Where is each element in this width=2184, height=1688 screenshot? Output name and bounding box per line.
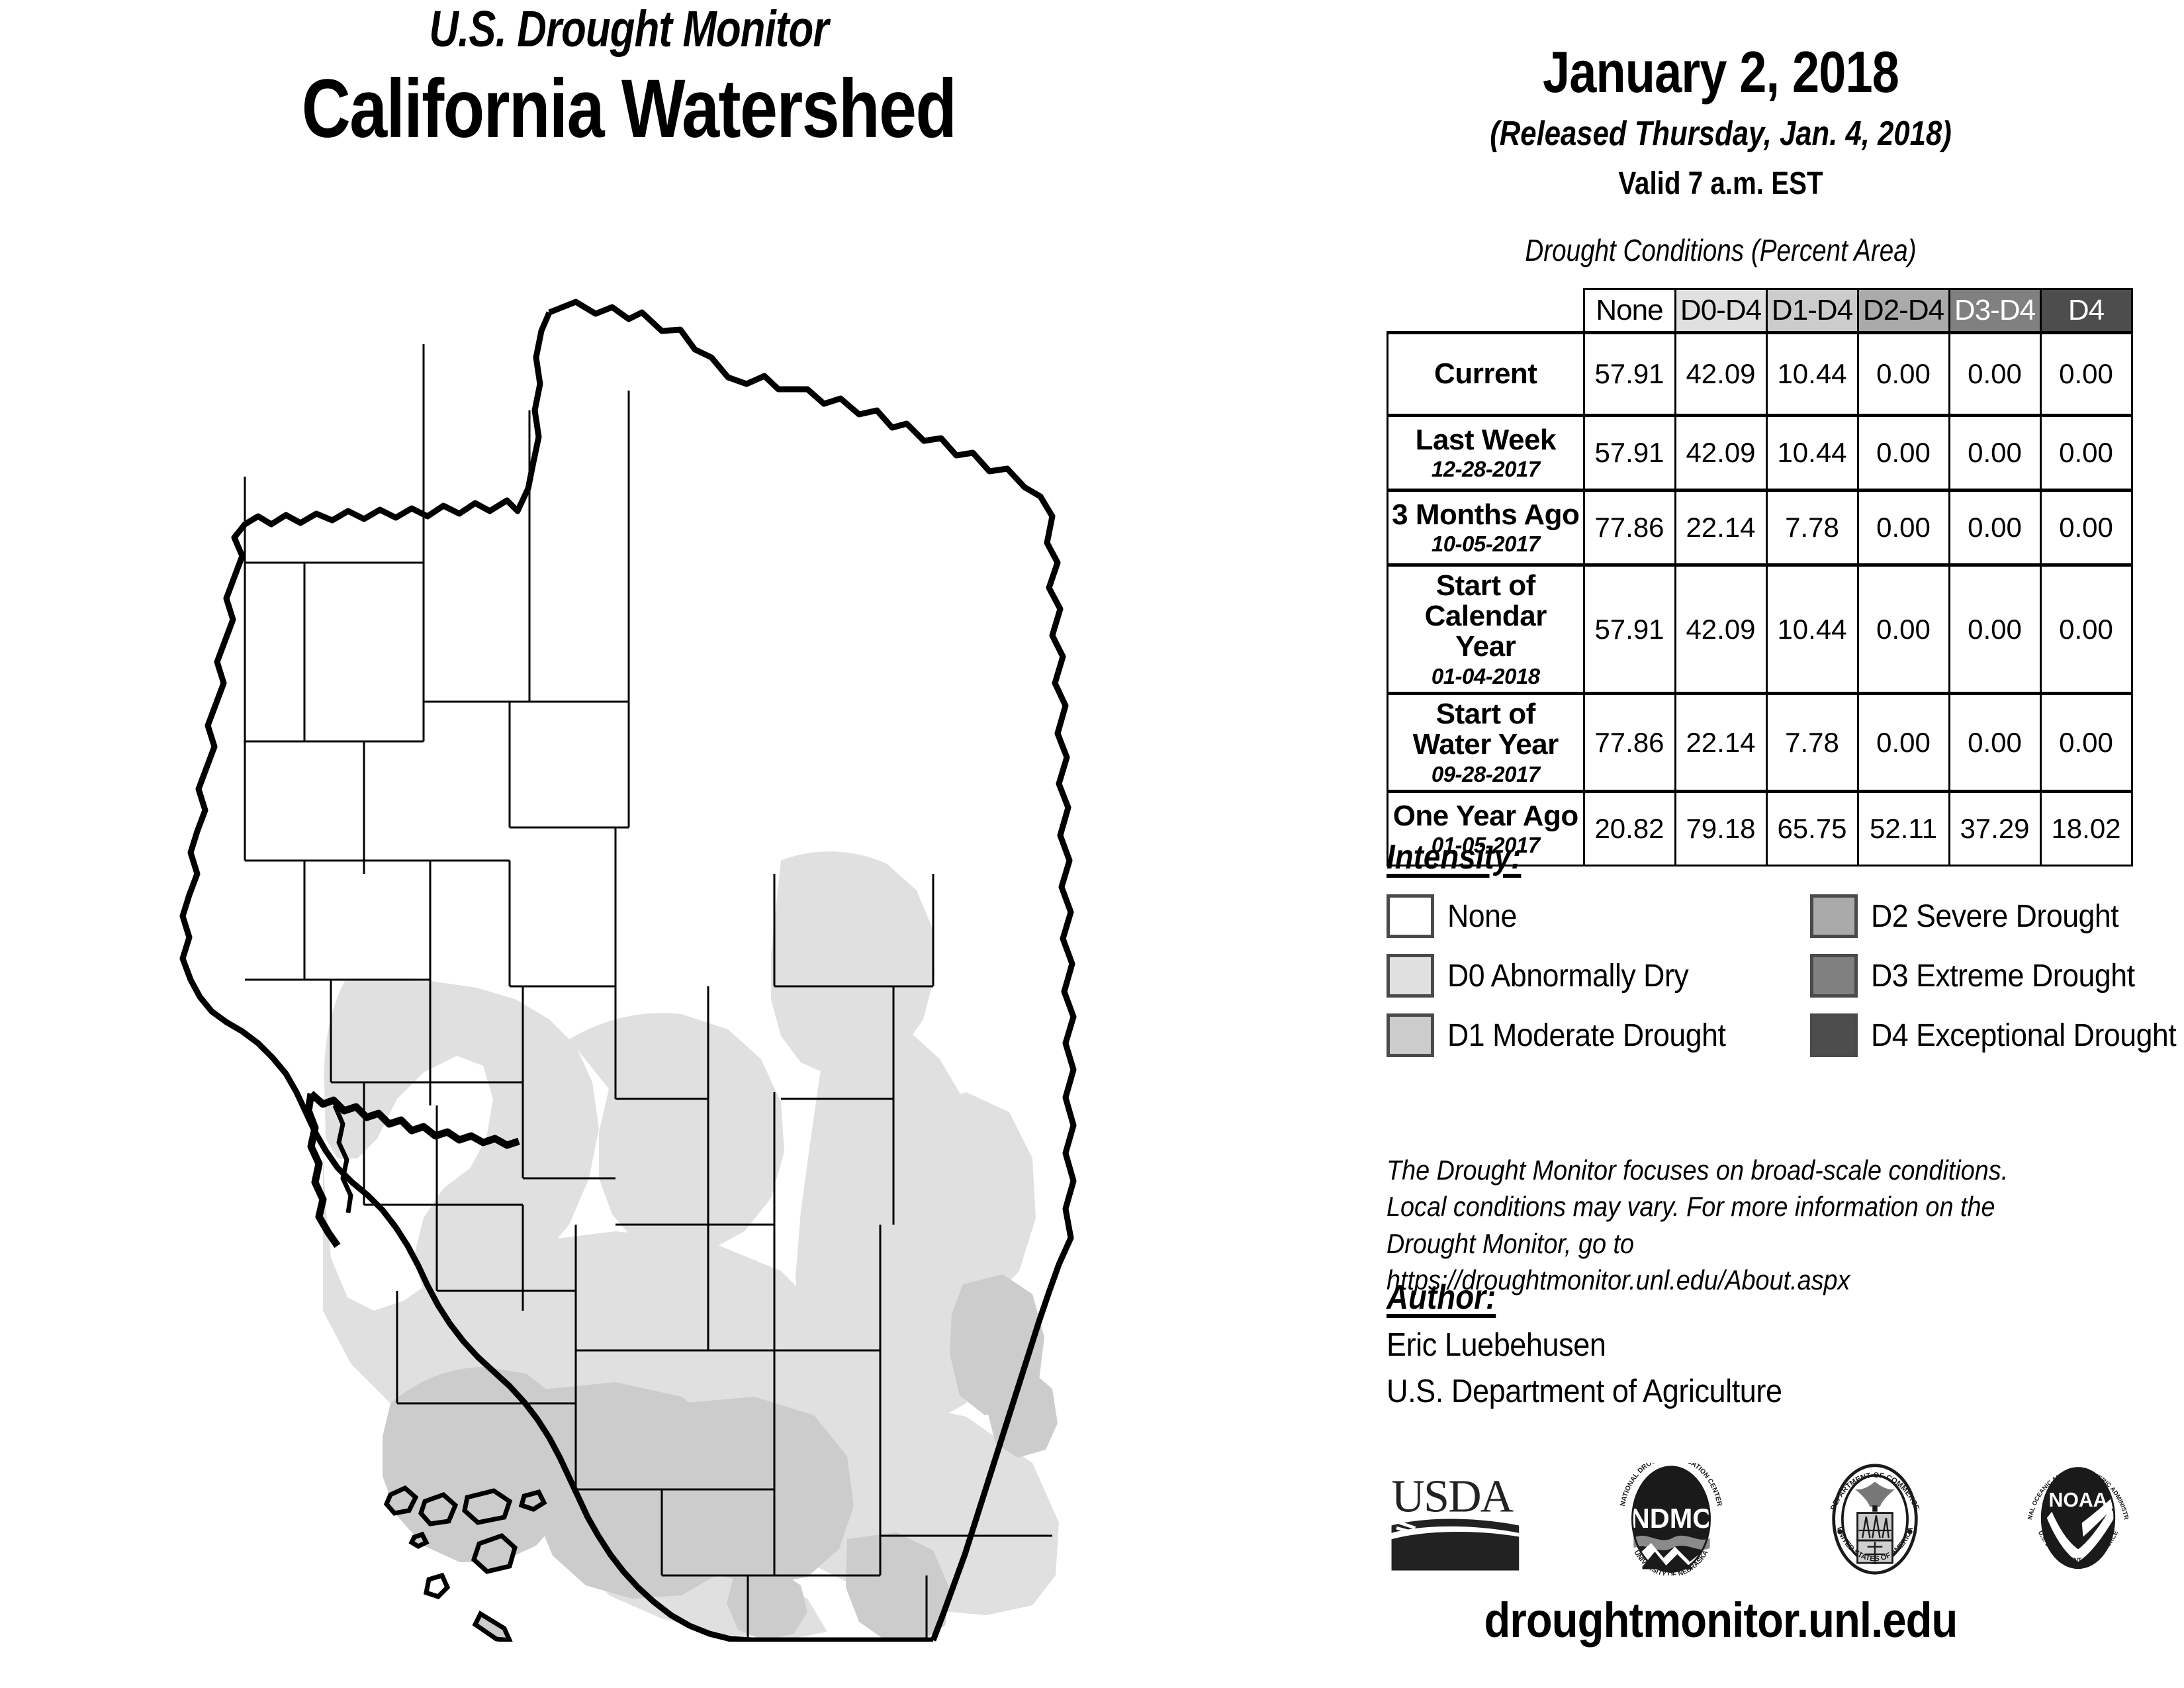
legend-item-5: D4 Exceptional Drought	[1810, 1013, 2167, 1057]
column-header-d0d4: D0-D4	[1675, 289, 1766, 333]
svg-text:NOAA: NOAA	[2048, 1489, 2107, 1511]
california-watershed-map	[113, 278, 1205, 1642]
cell-r2-c0: 77.86	[1584, 491, 1675, 565]
table-corner-cell	[1388, 289, 1584, 333]
intensity-heading: Intensity:	[1387, 837, 1521, 877]
cell-r0-c0: 57.91	[1584, 333, 1675, 416]
legend-swatch-5	[1810, 1013, 1858, 1057]
legend-label-0: None	[1447, 898, 1517, 935]
agency-logos: USDA NDMC NATIONAL DROUGHT MITIGATION CE…	[1387, 1450, 2134, 1575]
legend-item-4: D1 Moderate Drought	[1387, 1013, 1810, 1057]
row-date-3: 01-04-2018	[1391, 665, 1580, 688]
cell-r0-c4: 0.00	[1949, 333, 2040, 416]
cell-r1-c3: 0.00	[1858, 416, 1949, 491]
cell-r3-c0: 57.91	[1584, 565, 1675, 694]
cell-r1-c2: 10.44	[1766, 416, 1858, 491]
legend-label-1: D2 Severe Drought	[1871, 898, 2118, 935]
column-header-d2d4: D2-D4	[1858, 289, 1949, 333]
author-affiliation: U.S. Department of Agriculture	[1387, 1373, 1782, 1410]
cell-r2-c2: 7.78	[1766, 491, 1858, 565]
row-label-1: Last Week12-28-2017	[1388, 416, 1584, 491]
legend-item-1: D2 Severe Drought	[1810, 894, 2167, 938]
row-label-3: Start ofCalendar Year01-04-2018	[1388, 565, 1584, 694]
row-date-1: 12-28-2017	[1391, 458, 1580, 481]
legend-label-5: D4 Exceptional Drought	[1871, 1017, 2176, 1054]
cell-r3-c4: 0.00	[1949, 565, 2040, 694]
cell-r0-c3: 0.00	[1858, 333, 1949, 416]
column-header-d1d4: D1-D4	[1766, 289, 1858, 333]
legend-item-0: None	[1387, 894, 1810, 938]
cell-r3-c3: 0.00	[1858, 565, 1949, 694]
cell-r3-c1: 42.09	[1675, 565, 1766, 694]
legend-item-3: D3 Extreme Drought	[1810, 954, 2167, 998]
table-row: Start ofCalendar Year01-04-201857.9142.0…	[1388, 565, 2132, 694]
column-header-none: None	[1584, 289, 1675, 333]
valid-time: Valid 7 a.m. EST	[1332, 165, 2110, 202]
table-caption: Drought Conditions (Percent Area)	[1332, 232, 2110, 268]
table-body: Current57.9142.0910.440.000.000.00Last W…	[1388, 333, 2132, 866]
table-row: Last Week12-28-201757.9142.0910.440.000.…	[1388, 416, 2132, 491]
report-date: January 2, 2018	[1332, 38, 2110, 106]
svg-text:USDA: USDA	[1392, 1472, 1514, 1523]
intensity-legend: Intensity: NoneD2 Severe DroughtD0 Abnor…	[1387, 837, 2167, 1057]
legend-swatch-4	[1387, 1013, 1434, 1057]
cell-r4-c5: 0.00	[2040, 694, 2132, 792]
legend-swatch-1	[1810, 894, 1858, 938]
row-date-4: 09-28-2017	[1391, 763, 1580, 786]
drought-conditions-table: None D0-D4 D1-D4 D2-D4 D3-D4 D4 Current5…	[1387, 288, 2133, 867]
usda-logo: USDA	[1387, 1463, 1524, 1575]
svg-text:NDMC: NDMC	[1630, 1503, 1713, 1534]
cell-r1-c1: 42.09	[1675, 416, 1766, 491]
legend-label-2: D0 Abnormally Dry	[1447, 958, 1688, 994]
map-title-block: U.S. Drought Monitor California Watershe…	[0, 0, 1257, 156]
cell-r0-c2: 10.44	[1766, 333, 1858, 416]
footer-url[interactable]: droughtmonitor.unl.edu	[1313, 1592, 2128, 1648]
legend-grid: NoneD2 Severe DroughtD0 Abnormally DryD3…	[1387, 894, 2167, 1057]
table-row: Current57.9142.0910.440.000.000.00	[1388, 333, 2132, 416]
cell-r4-c1: 22.14	[1675, 694, 1766, 792]
disclaimer-text: The Drought Monitor focuses on broad-sca…	[1387, 1152, 2101, 1299]
cell-r3-c2: 10.44	[1766, 565, 1858, 694]
legend-label-3: D3 Extreme Drought	[1871, 958, 2135, 994]
release-date: (Released Thursday, Jan. 4, 2018)	[1332, 114, 2110, 154]
disclaimer-line-2: Local conditions may vary. For more info…	[1387, 1188, 2101, 1225]
table-row: 3 Months Ago10-05-201777.8622.147.780.00…	[1388, 491, 2132, 565]
cell-r0-c5: 0.00	[2040, 333, 2132, 416]
drought-monitor-eyebrow: U.S. Drought Monitor	[126, 0, 1132, 59]
cell-r4-c3: 0.00	[1858, 694, 1949, 792]
table-row: Start ofWater Year09-28-201777.8622.147.…	[1388, 694, 2132, 792]
legend-label-4: D1 Moderate Drought	[1447, 1017, 1725, 1054]
cell-r4-c4: 0.00	[1949, 694, 2040, 792]
author-name: Eric Luebehusen	[1387, 1327, 1782, 1364]
row-label-0: Current	[1388, 333, 1584, 416]
legend-swatch-3	[1810, 954, 1858, 998]
author-heading: Author:	[1387, 1278, 1496, 1317]
noaa-logo: NOAA NATIONAL OCEANIC AND ATMOSPHERIC AD…	[2022, 1463, 2134, 1575]
cell-r0-c1: 42.09	[1675, 333, 1766, 416]
cell-r4-c2: 7.78	[1766, 694, 1858, 792]
author-block: Author: Eric Luebehusen U.S. Department …	[1387, 1278, 1817, 1410]
cell-r4-c0: 77.86	[1584, 694, 1675, 792]
cell-r1-c4: 0.00	[1949, 416, 2040, 491]
legend-swatch-0	[1387, 894, 1434, 938]
cell-r1-c0: 57.91	[1584, 416, 1675, 491]
cell-r2-c4: 0.00	[1949, 491, 2040, 565]
row-label-2: 3 Months Ago10-05-2017	[1388, 491, 1584, 565]
map-svg	[113, 278, 1205, 1642]
ndmc-logo: NDMC NATIONAL DROUGHT MITIGATION CENTER …	[1615, 1463, 1727, 1575]
cell-r2-c1: 22.14	[1675, 491, 1766, 565]
right-info-panel: January 2, 2018 (Released Thursday, Jan.…	[1257, 0, 2184, 1688]
legend-swatch-2	[1387, 954, 1434, 998]
cell-r3-c5: 0.00	[2040, 565, 2132, 694]
row-date-2: 10-05-2017	[1391, 533, 1580, 556]
disclaimer-line-1: The Drought Monitor focuses on broad-sca…	[1387, 1152, 2101, 1188]
page-title: California Watershed	[113, 62, 1144, 156]
cell-r2-c5: 0.00	[2040, 491, 2132, 565]
column-header-d3d4: D3-D4	[1949, 289, 2040, 333]
table-header-row: None D0-D4 D1-D4 D2-D4 D3-D4 D4	[1388, 289, 2132, 333]
cell-r1-c5: 0.00	[2040, 416, 2132, 491]
doc-logo: DEPARTMENT OF COMMERCE UNITED STATES OF …	[1819, 1463, 1931, 1575]
legend-item-2: D0 Abnormally Dry	[1387, 954, 1810, 998]
cell-r2-c3: 0.00	[1858, 491, 1949, 565]
row-label-4: Start ofWater Year09-28-2017	[1388, 694, 1584, 792]
column-header-d4: D4	[2040, 289, 2132, 333]
